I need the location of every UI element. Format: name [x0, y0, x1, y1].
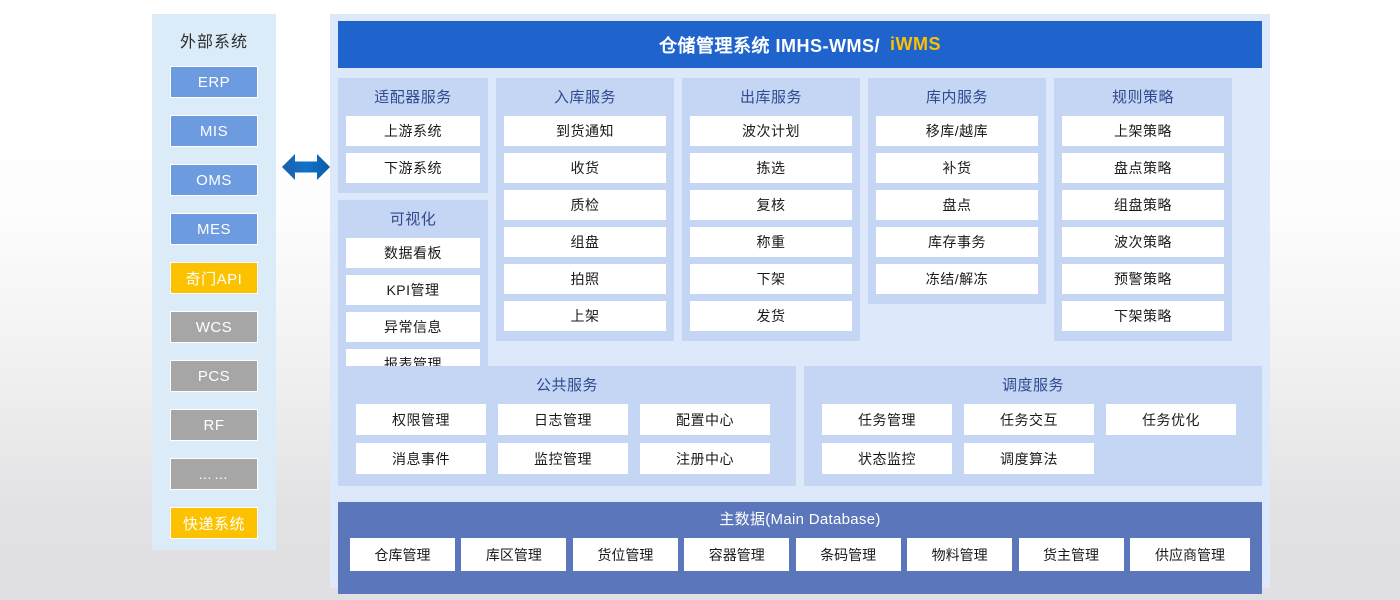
sidebar-item-rf[interactable]: RF — [170, 409, 258, 441]
double-arrow-icon — [282, 150, 330, 184]
card-in-warehouse-service: 库内服务 移库/越库 补货 盘点 库存事务 冻结/解冻 — [868, 78, 1046, 304]
card-title: 适配器服务 — [346, 86, 480, 107]
card-adapter-service: 适配器服务 上游系统 下游系统 — [338, 78, 488, 193]
card-inbound-service: 入库服务 到货通知 收货 质检 组盘 拍照 上架 — [496, 78, 674, 341]
chip-task-management[interactable]: 任务管理 — [822, 404, 952, 435]
chip-palletizing-strategy[interactable]: 组盘策略 — [1062, 190, 1224, 220]
sidebar-item-more[interactable]: …… — [170, 458, 258, 490]
chip-photograph[interactable]: 拍照 — [504, 264, 666, 294]
chip-wave-plan[interactable]: 波次计划 — [690, 116, 852, 146]
chip-offshelf-strategy[interactable]: 下架策略 — [1062, 301, 1224, 331]
panel-title: 仓储管理系统 IMHS-WMS/ — [659, 32, 880, 58]
card-public-service: 公共服务 权限管理 日志管理 配置中心 消息事件 监控管理 注册中心 — [338, 366, 796, 486]
chip-alert-strategy[interactable]: 预警策略 — [1062, 264, 1224, 294]
chip-permission-management[interactable]: 权限管理 — [356, 404, 486, 435]
chip-receiving[interactable]: 收货 — [504, 153, 666, 183]
panel-header: 仓储管理系统 IMHS-WMS/ iWMS — [338, 21, 1262, 68]
sidebar-item-mes[interactable]: MES — [170, 213, 258, 245]
chip-upstream-system[interactable]: 上游系统 — [346, 116, 480, 146]
chip-arrival-notice[interactable]: 到货通知 — [504, 116, 666, 146]
chip-material-management[interactable]: 物料管理 — [907, 538, 1012, 571]
card-title: 调度服务 — [814, 374, 1252, 395]
card-title: 公共服务 — [348, 374, 786, 395]
card-outbound-service: 出库服务 波次计划 拣选 复核 称重 下架 发货 — [682, 78, 860, 341]
sidebar-item-wcs[interactable]: WCS — [170, 311, 258, 343]
chip-location-management[interactable]: 货位管理 — [573, 538, 678, 571]
chip-exception-info[interactable]: 异常信息 — [346, 312, 480, 342]
card-title: 库内服务 — [876, 86, 1038, 107]
sidebar-item-erp[interactable]: ERP — [170, 66, 258, 98]
card-scheduling-service: 调度服务 任务管理 任务交互 任务优化 状态监控 调度算法 — [804, 366, 1262, 486]
chip-zone-management[interactable]: 库区管理 — [461, 538, 566, 571]
chip-log-management[interactable]: 日志管理 — [498, 404, 628, 435]
external-systems-panel: 外部系统 ERP MIS OMS MES 奇门API WCS PCS RF ……… — [152, 14, 276, 550]
chip-downstream-system[interactable]: 下游系统 — [346, 153, 480, 183]
main-database-title: 主数据(Main Database) — [350, 508, 1250, 529]
card-title: 出库服务 — [690, 86, 852, 107]
chip-putaway-strategy[interactable]: 上架策略 — [1062, 116, 1224, 146]
chip-registry-center[interactable]: 注册中心 — [640, 443, 770, 474]
sidebar-item-qimen-api[interactable]: 奇门API — [170, 262, 258, 294]
main-database-row: 仓库管理 库区管理 货位管理 容器管理 条码管理 物料管理 货主管理 供应商管理 — [350, 538, 1250, 571]
chip-task-interaction[interactable]: 任务交互 — [964, 404, 1094, 435]
panel-title-accent: iWMS — [890, 34, 941, 55]
public-service-grid: 权限管理 日志管理 配置中心 消息事件 监控管理 注册中心 — [348, 404, 786, 474]
chip-task-optimization[interactable]: 任务优化 — [1106, 404, 1236, 435]
chip-stocktaking[interactable]: 盘点 — [876, 190, 1038, 220]
chip-scheduling-algorithm[interactable]: 调度算法 — [964, 443, 1094, 474]
chip-container-management[interactable]: 容器管理 — [684, 538, 789, 571]
sidebar-item-pcs[interactable]: PCS — [170, 360, 258, 392]
sidebar-item-mis[interactable]: MIS — [170, 115, 258, 147]
shared-service-row: 公共服务 权限管理 日志管理 配置中心 消息事件 监控管理 注册中心 调度服务 … — [338, 366, 1262, 486]
card-title: 可视化 — [346, 208, 480, 229]
chip-data-dashboard[interactable]: 数据看板 — [346, 238, 480, 268]
chip-freeze-unfreeze[interactable]: 冻结/解冻 — [876, 264, 1038, 294]
chip-owner-management[interactable]: 货主管理 — [1019, 538, 1124, 571]
architecture-diagram: 外部系统 ERP MIS OMS MES 奇门API WCS PCS RF ……… — [0, 0, 1400, 600]
chip-supplier-management[interactable]: 供应商管理 — [1130, 538, 1250, 571]
scheduling-service-grid: 任务管理 任务交互 任务优化 状态监控 调度算法 — [814, 404, 1252, 474]
chip-config-center[interactable]: 配置中心 — [640, 404, 770, 435]
chip-wave-strategy[interactable]: 波次策略 — [1062, 227, 1224, 257]
chip-shipping[interactable]: 发货 — [690, 301, 852, 331]
chip-replenishment[interactable]: 补货 — [876, 153, 1038, 183]
chip-recheck[interactable]: 复核 — [690, 190, 852, 220]
chip-offshelf[interactable]: 下架 — [690, 264, 852, 294]
chip-picking[interactable]: 拣选 — [690, 153, 852, 183]
chip-putaway[interactable]: 上架 — [504, 301, 666, 331]
chip-quality-check[interactable]: 质检 — [504, 190, 666, 220]
chip-weighing[interactable]: 称重 — [690, 227, 852, 257]
chip-message-event[interactable]: 消息事件 — [356, 443, 486, 474]
chip-palletizing[interactable]: 组盘 — [504, 227, 666, 257]
sidebar-item-oms[interactable]: OMS — [170, 164, 258, 196]
chip-stocktaking-strategy[interactable]: 盘点策略 — [1062, 153, 1224, 183]
chip-kpi-management[interactable]: KPI管理 — [346, 275, 480, 305]
chip-barcode-management[interactable]: 条码管理 — [796, 538, 901, 571]
chip-move-cross-dock[interactable]: 移库/越库 — [876, 116, 1038, 146]
card-rule-strategy: 规则策略 上架策略 盘点策略 组盘策略 波次策略 预警策略 下架策略 — [1054, 78, 1232, 341]
chip-monitor-management[interactable]: 监控管理 — [498, 443, 628, 474]
sidebar-item-express-system[interactable]: 快递系统 — [170, 507, 258, 539]
wms-panel: 仓储管理系统 IMHS-WMS/ iWMS 适配器服务 上游系统 下游系统 可视… — [330, 14, 1270, 588]
main-database-section: 主数据(Main Database) 仓库管理 库区管理 货位管理 容器管理 条… — [338, 502, 1262, 594]
card-title: 入库服务 — [504, 86, 666, 107]
chip-inventory-transaction[interactable]: 库存事务 — [876, 227, 1038, 257]
card-title: 规则策略 — [1062, 86, 1224, 107]
chip-warehouse-management[interactable]: 仓库管理 — [350, 538, 455, 571]
external-systems-title: 外部系统 — [152, 28, 276, 52]
chip-status-monitoring[interactable]: 状态监控 — [822, 443, 952, 474]
